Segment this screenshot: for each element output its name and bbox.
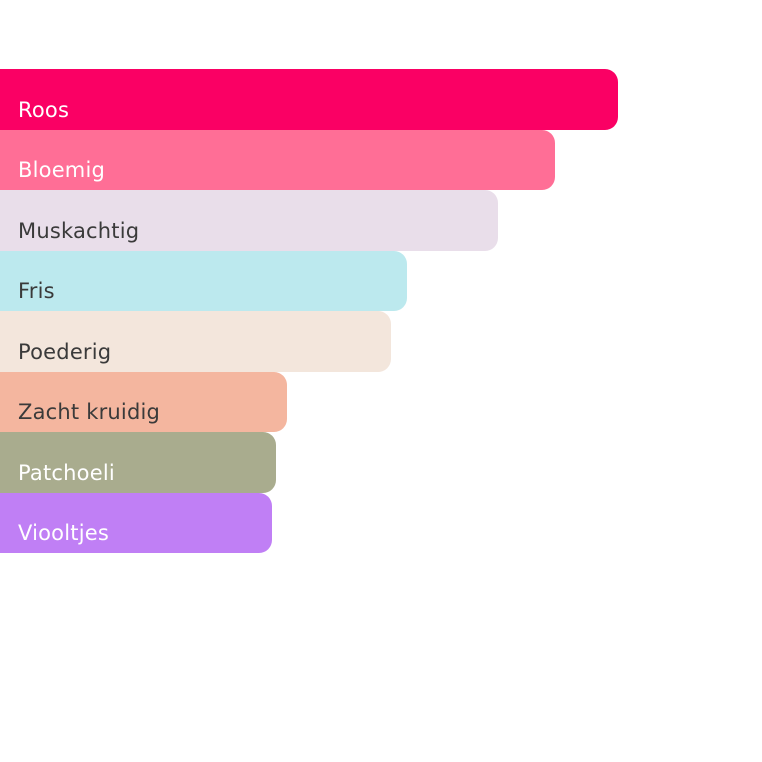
bar-track: Patchoeli [0,432,762,493]
bar-track: Bloemig [0,130,762,191]
bar-row[interactable]: Poederig [0,311,762,372]
bar-row[interactable]: Fris [0,251,762,312]
bar-row[interactable]: Roos [0,69,762,130]
bar-fill-patchoeli[interactable] [0,432,276,493]
bar-track: Viooltjes [0,493,762,554]
bar-fill-zacht-kruidig[interactable] [0,372,287,433]
bar-track: Roos [0,69,762,130]
bar-fill-muskachtig[interactable] [0,190,498,251]
bar-fill-roos[interactable] [0,69,618,130]
bar-row[interactable]: Viooltjes [0,493,762,554]
bar-track: Zacht kruidig [0,372,762,433]
bar-track: Poederig [0,311,762,372]
bar-row[interactable]: Patchoeli [0,432,762,493]
bar-fill-poederig[interactable] [0,311,391,372]
bar-track: Muskachtig [0,190,762,251]
bar-fill-bloemig[interactable] [0,130,555,191]
bar-row[interactable]: Bloemig [0,130,762,191]
bar-list: Roos Bloemig Muskachtig Fris Poe [0,69,762,553]
bar-chart: Roos Bloemig Muskachtig Fris Poe [0,0,762,762]
bar-row[interactable]: Zacht kruidig [0,372,762,433]
bar-fill-fris[interactable] [0,251,407,312]
bar-track: Fris [0,251,762,312]
bar-row[interactable]: Muskachtig [0,190,762,251]
bar-fill-viooltjes[interactable] [0,493,272,554]
